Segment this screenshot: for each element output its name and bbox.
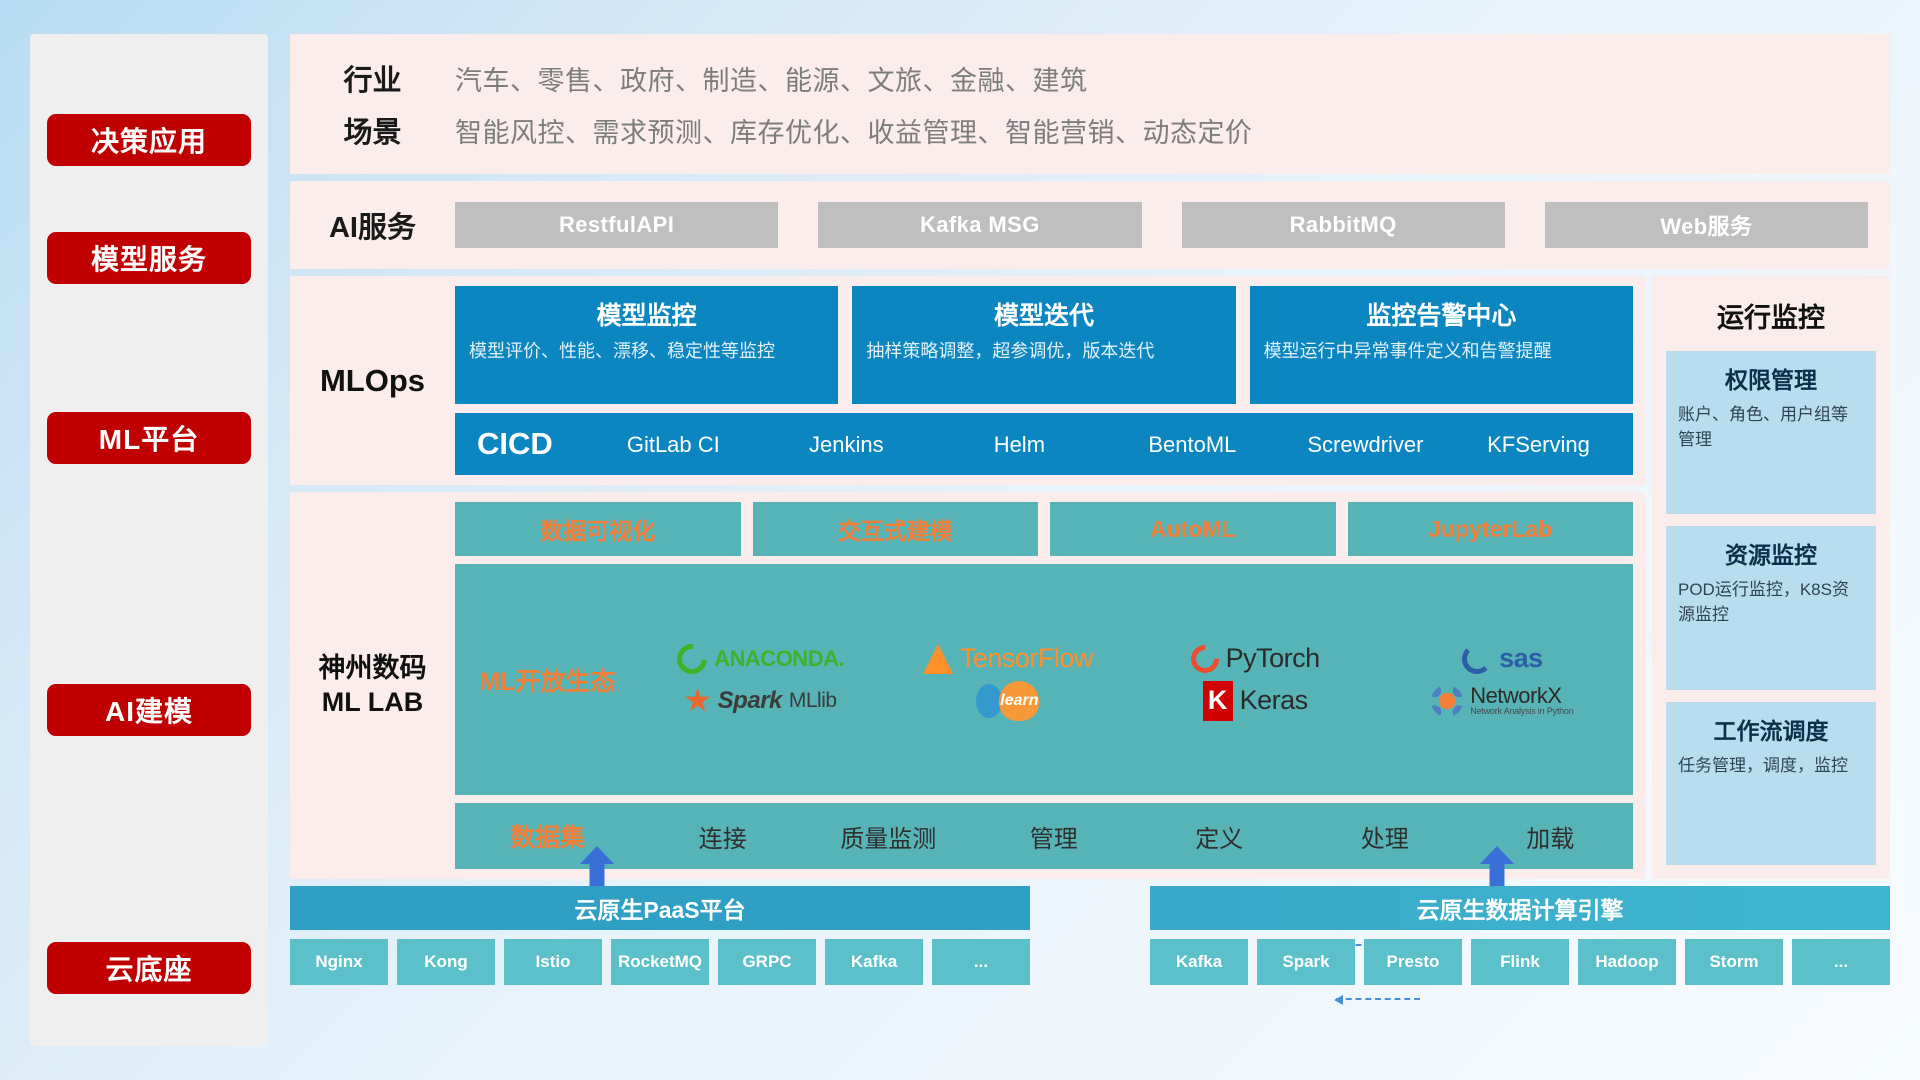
cicd-item-kfserving[interactable]: KFServing (1452, 431, 1625, 456)
ml-lab-tool-tabs: 数据可视化 交互式建模 AutoML JupyterLab (455, 502, 1633, 556)
ml-ecosystem-panel: ML开放生态 ANACONDA. TensorFlow (455, 564, 1633, 795)
anaconda-logo-text: ANACONDA. (714, 646, 844, 672)
cicd-item-gitlab-ci[interactable]: GitLab CI (587, 431, 760, 456)
cicd-item-list: GitLab CI Jenkins Helm BentoML Screwdriv… (587, 431, 1625, 456)
networkx-logo[interactable]: NetworkX Network Analysis in Python (1431, 685, 1573, 717)
paas-chip-kafka[interactable]: Kafka (825, 939, 923, 985)
card-title: 资源监控 (1678, 536, 1864, 570)
rail-item-label: ML平台 (99, 418, 199, 458)
anaconda-icon (671, 637, 713, 679)
monitoring-card-permissions[interactable]: 权限管理 账户、角色、用户组等管理 (1666, 351, 1876, 514)
tool-tab-automl[interactable]: AutoML (1050, 502, 1336, 556)
rail-item-model-service[interactable]: 模型服务 (47, 232, 251, 284)
card-desc: 模型评价、性能、漂移、稳定性等监控 (469, 339, 824, 363)
pytorch-logo[interactable]: PyTorch (1191, 643, 1320, 674)
ml-lab-content: 数据可视化 交互式建模 AutoML JupyterLab ML开放生态 ANA… (455, 502, 1633, 869)
tool-tab-jupyterlab[interactable]: JupyterLab (1348, 502, 1634, 556)
sas-logo[interactable]: sas (1462, 643, 1543, 674)
cicd-item-jenkins[interactable]: Jenkins (760, 431, 933, 456)
card-title: 模型监控 (469, 296, 824, 332)
tensorflow-logo-text: TensorFlow (960, 643, 1093, 674)
runtime-monitoring-title: 运行监控 (1717, 290, 1825, 339)
card-desc: 账户、角色、用户组等管理 (1678, 403, 1864, 452)
tool-tab-interactive-modeling[interactable]: 交互式建模 (753, 502, 1039, 556)
networkx-logo-text: NetworkX (1470, 685, 1561, 707)
ai-service-chip-restfulapi[interactable]: RestfulAPI (455, 202, 778, 248)
monitoring-card-workflow[interactable]: 工作流调度 任务管理，调度，监控 (1666, 702, 1876, 865)
dataset-item-quality-monitoring[interactable]: 质量监测 (806, 819, 972, 854)
layer-rail: 决策应用 模型服务 ML平台 AI建模 云底座 (30, 34, 268, 1046)
paas-chip-kong[interactable]: Kong (397, 939, 495, 985)
sas-icon (1462, 644, 1492, 674)
card-desc: 抽样策略调整，超参调优，版本迭代 (866, 339, 1221, 363)
engine-chip-storm[interactable]: Storm (1685, 939, 1783, 985)
dataset-item-definition[interactable]: 定义 (1137, 819, 1303, 854)
mlops-card-alert-center[interactable]: 监控告警中心 模型运行中异常事件定义和告警提醒 (1250, 286, 1633, 404)
ml-ecosystem-logo-list: ANACONDA. TensorFlow PyTorch (640, 639, 1623, 721)
sas-logo-text: sas (1499, 643, 1543, 674)
dataset-item-list: 连接 质量监测 管理 定义 处理 加载 (640, 819, 1633, 854)
ai-service-chip-web-service[interactable]: Web服务 (1545, 202, 1868, 248)
card-title: 监控告警中心 (1264, 296, 1619, 332)
rail-item-cloud-base[interactable]: 云底座 (47, 942, 251, 994)
keras-logo-text: Keras (1240, 685, 1308, 716)
engine-chip-flink[interactable]: Flink (1471, 939, 1569, 985)
tool-tab-data-visualization[interactable]: 数据可视化 (455, 502, 741, 556)
ai-service-chip-kafka-msg[interactable]: Kafka MSG (818, 202, 1141, 248)
paas-chip-rocketmq[interactable]: RocketMQ (611, 939, 709, 985)
rail-item-ai-modeling[interactable]: AI建模 (47, 684, 251, 736)
scenario-label: 场景 (290, 109, 455, 151)
tensorflow-logo[interactable]: TensorFlow (923, 643, 1093, 674)
platform-section: MLOps 模型监控 模型评价、性能、漂移、稳定性等监控 模型迭代 抽样策略调整… (290, 276, 1890, 879)
card-desc: 任务管理，调度，监控 (1678, 754, 1864, 779)
rail-item-decision-apps[interactable]: 决策应用 (47, 114, 251, 166)
cloud-native-paas-title: 云原生PaaS平台 (290, 886, 1030, 930)
ml-ecosystem-label: ML开放生态 (455, 662, 640, 698)
ml-lab-label-line2: ML LAB (322, 686, 424, 720)
cicd-item-screwdriver[interactable]: Screwdriver (1279, 431, 1452, 456)
ai-service-chip-rabbitmq[interactable]: RabbitMQ (1182, 202, 1505, 248)
pytorch-logo-text: PyTorch (1226, 643, 1320, 674)
ai-service-band: AI服务 RestfulAPI Kafka MSG RabbitMQ Web服务 (290, 181, 1890, 269)
scikit-learn-logo[interactable]: learn (976, 681, 1039, 721)
scikit-learn-logo-text: learn (1000, 692, 1038, 710)
industry-label: 行业 (290, 57, 455, 99)
rail-item-label: 模型服务 (91, 238, 207, 278)
main-column: 行业 汽车、零售、政府、制造、能源、文旅、金融、建筑 场景 智能风控、需求预测、… (290, 34, 1890, 1046)
engine-chip-hadoop[interactable]: Hadoop (1578, 939, 1676, 985)
ai-service-label: AI服务 (290, 204, 455, 246)
paas-chip-list: Nginx Kong Istio RocketMQ GRPC Kafka ... (290, 939, 1030, 985)
runtime-monitoring-column: 运行监控 权限管理 账户、角色、用户组等管理 资源监控 POD运行监控，K8S资… (1652, 276, 1890, 879)
paas-chip-more[interactable]: ... (932, 939, 1030, 985)
cloud-native-paas-group: 云原生PaaS平台 Nginx Kong Istio RocketMQ GRPC… (290, 886, 1030, 1046)
card-title: 模型迭代 (866, 296, 1221, 332)
mlops-card-list: 模型监控 模型评价、性能、漂移、稳定性等监控 模型迭代 抽样策略调整，超参调优，… (455, 286, 1633, 404)
spark-star-icon (685, 688, 711, 714)
engine-chip-presto[interactable]: Presto (1364, 939, 1462, 985)
cicd-label: CICD (477, 426, 553, 462)
networkx-text-group: NetworkX Network Analysis in Python (1470, 685, 1573, 716)
dataset-label: 数据集 (455, 818, 640, 854)
keras-logo[interactable]: K Keras (1203, 681, 1308, 721)
dataset-item-management[interactable]: 管理 (971, 819, 1137, 854)
card-title: 工作流调度 (1678, 712, 1864, 746)
card-title: 权限管理 (1678, 361, 1864, 395)
tensorflow-icon (923, 644, 953, 674)
networkx-tagline: Network Analysis in Python (1470, 707, 1573, 716)
card-desc: POD运行监控，K8S资源监控 (1678, 578, 1864, 627)
ai-service-chip-list: RestfulAPI Kafka MSG RabbitMQ Web服务 (455, 202, 1868, 248)
dataset-item-connect[interactable]: 连接 (640, 819, 806, 854)
pytorch-icon (1185, 639, 1225, 679)
cloud-native-data-engine-title: 云原生数据计算引擎 (1150, 886, 1890, 930)
ai-modeling-band: 神州数码 ML LAB 数据可视化 交互式建模 AutoML JupyterLa… (290, 492, 1645, 879)
anaconda-logo[interactable]: ANACONDA. (677, 644, 844, 674)
keras-icon: K (1203, 681, 1233, 721)
dataset-bar: 数据集 连接 质量监测 管理 定义 处理 加载 (455, 803, 1633, 869)
monitoring-card-resources[interactable]: 资源监控 POD运行监控，K8S资源监控 (1666, 526, 1876, 689)
rail-item-label: AI建模 (105, 690, 193, 730)
cicd-item-bentoml[interactable]: BentoML (1106, 431, 1279, 456)
cloud-base-section: 云原生PaaS平台 Nginx Kong Istio RocketMQ GRPC… (290, 886, 1890, 1046)
rail-item-label: 决策应用 (91, 120, 207, 160)
cloud-native-data-engine-group: 云原生数据计算引擎 Kafka Spark Presto Flink Hadoo… (1150, 886, 1890, 1046)
industry-row: 行业 汽车、零售、政府、制造、能源、文旅、金融、建筑 (290, 57, 1890, 99)
cicd-bar: CICD GitLab CI Jenkins Helm BentoML Scre… (455, 413, 1633, 475)
engine-chip-spark[interactable]: Spark (1257, 939, 1355, 985)
rail-item-ml-platform[interactable]: ML平台 (47, 412, 251, 464)
rail-item-label: 云底座 (105, 948, 192, 988)
scikit-orange-icon: learn (999, 681, 1039, 721)
mllib-logo-text: MLlib (789, 689, 837, 713)
mlops-card-model-iteration[interactable]: 模型迭代 抽样策略调整，超参调优，版本迭代 (852, 286, 1235, 404)
engine-chip-more[interactable]: ... (1792, 939, 1890, 985)
mlops-card-model-monitoring[interactable]: 模型监控 模型评价、性能、漂移、稳定性等监控 (455, 286, 838, 404)
data-engine-chip-list: Kafka Spark Presto Flink Hadoop Storm ..… (1150, 939, 1890, 985)
ml-lab-label-line1: 神州数码 (319, 652, 427, 686)
scenario-values: 智能风控、需求预测、库存优化、收益管理、智能营销、动态定价 (455, 111, 1253, 150)
mlops-band: MLOps 模型监控 模型评价、性能、漂移、稳定性等监控 模型迭代 抽样策略调整… (290, 276, 1645, 485)
networkx-icon (1431, 685, 1463, 717)
cicd-item-helm[interactable]: Helm (933, 431, 1106, 456)
card-desc: 模型运行中异常事件定义和告警提醒 (1264, 339, 1619, 363)
paas-chip-nginx[interactable]: Nginx (290, 939, 388, 985)
mlops-label: MLOps (290, 286, 455, 475)
spark-mllib-logo[interactable]: Spark MLlib (685, 687, 837, 715)
platform-main: MLOps 模型监控 模型评价、性能、漂移、稳定性等监控 模型迭代 抽样策略调整… (290, 276, 1645, 879)
ml-lab-label: 神州数码 ML LAB (290, 502, 455, 869)
paas-chip-istio[interactable]: Istio (504, 939, 602, 985)
decision-apps-band: 行业 汽车、零售、政府、制造、能源、文旅、金融、建筑 场景 智能风控、需求预测、… (290, 34, 1890, 174)
paas-chip-grpc[interactable]: GRPC (718, 939, 816, 985)
scenario-row: 场景 智能风控、需求预测、库存优化、收益管理、智能营销、动态定价 (290, 109, 1890, 151)
engine-chip-kafka[interactable]: Kafka (1150, 939, 1248, 985)
dataset-item-processing[interactable]: 处理 (1302, 819, 1468, 854)
architecture-diagram: 决策应用 模型服务 ML平台 AI建模 云底座 行业 汽车、零售、政府、制造、能… (30, 34, 1890, 1046)
mlops-content: 模型监控 模型评价、性能、漂移、稳定性等监控 模型迭代 抽样策略调整，超参调优，… (455, 286, 1633, 475)
industry-values: 汽车、零售、政府、制造、能源、文旅、金融、建筑 (455, 59, 1088, 98)
spark-logo-text: Spark (718, 687, 782, 715)
dataset-item-loading[interactable]: 加载 (1468, 819, 1634, 854)
